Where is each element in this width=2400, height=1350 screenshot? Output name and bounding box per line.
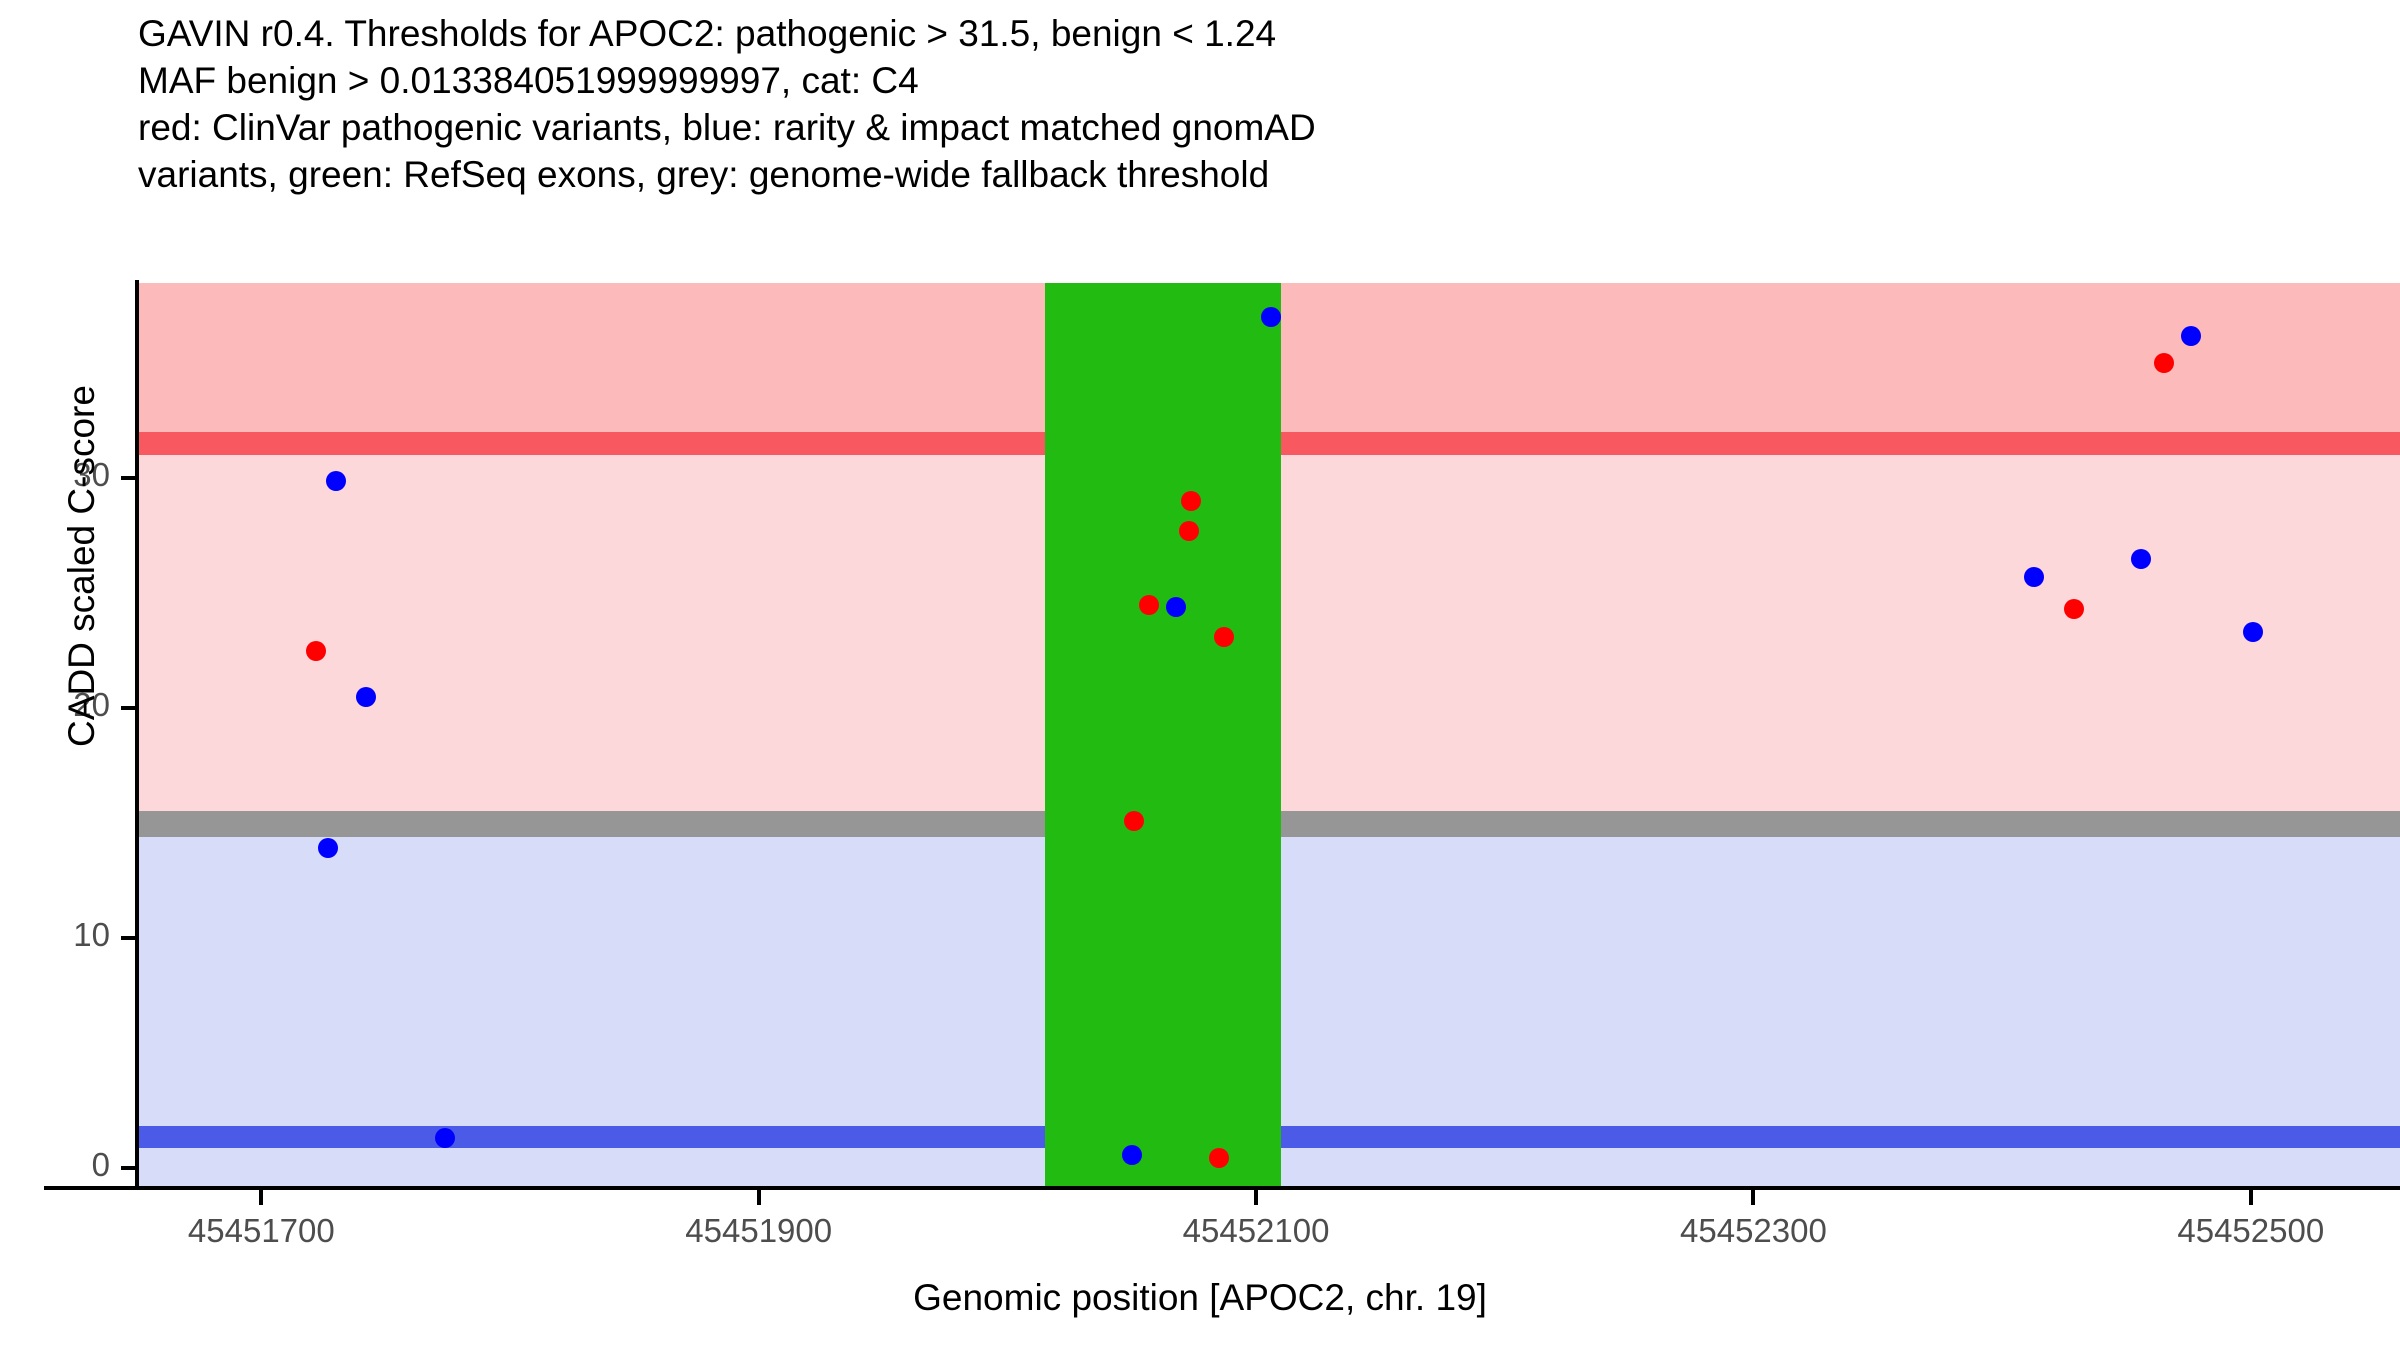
clinvar-pathogenic-point[interactable] [1124,811,1144,831]
clinvar-pathogenic-point[interactable] [1181,491,1201,511]
x-axis-tick [259,1190,263,1205]
gnomad-variant-point[interactable] [2024,567,2044,587]
gnomad-variant-point[interactable] [435,1128,455,1148]
chart-title-block: GAVIN r0.4. Thresholds for APOC2: pathog… [138,10,2338,198]
clinvar-pathogenic-point[interactable] [2154,353,2174,373]
gnomad-variant-point[interactable] [2131,549,2151,569]
x-axis-tick [2249,1190,2253,1205]
title-line-4: variants, green: RefSeq exons, grey: gen… [138,151,2338,198]
x-axis-tick-label: 45451700 [188,1212,335,1250]
clinvar-pathogenic-point[interactable] [1214,627,1234,647]
gnomad-variant-point[interactable] [1261,307,1281,327]
title-line-2: MAF benign > 0.013384051999999997, cat: … [138,57,2338,104]
clinvar-pathogenic-point[interactable] [306,641,326,661]
refseq-exon-band [1045,283,1281,1186]
x-axis-tick [1751,1190,1755,1205]
clinvar-pathogenic-point[interactable] [1179,521,1199,541]
gnomad-variant-point[interactable] [1166,597,1186,617]
y-axis-title: CADD scaled C-score [61,216,103,916]
y-axis-tick [121,1166,135,1170]
clinvar-pathogenic-point[interactable] [1209,1148,1229,1168]
clinvar-pathogenic-point[interactable] [1139,595,1159,615]
x-axis-tick [1254,1190,1258,1205]
title-line-3: red: ClinVar pathogenic variants, blue: … [138,104,2338,151]
gnomad-variant-point[interactable] [356,687,376,707]
title-line-1: GAVIN r0.4. Thresholds for APOC2: pathog… [138,10,2338,57]
x-axis-tick-label: 45451900 [685,1212,832,1250]
x-axis-line [44,1186,2400,1190]
y-axis-tick-label: 0 [0,1146,110,1184]
y-axis-tick [121,706,135,710]
x-axis-tick-label: 45452300 [1680,1212,1827,1250]
gnomad-variant-point[interactable] [2181,326,2201,346]
plot-area [137,283,2400,1186]
y-axis-tick-label: 10 [0,916,110,954]
gnomad-variant-point[interactable] [2243,622,2263,642]
chart-root: GAVIN r0.4. Thresholds for APOC2: pathog… [0,0,2400,1350]
clinvar-pathogenic-point[interactable] [2064,599,2084,619]
x-axis-tick [757,1190,761,1205]
gnomad-variant-point[interactable] [326,471,346,491]
y-axis-tick [121,476,135,480]
gnomad-variant-point[interactable] [1122,1145,1142,1165]
x-axis-tick-label: 45452100 [1183,1212,1330,1250]
gnomad-variant-point[interactable] [318,838,338,858]
x-axis-title: Genomic position [APOC2, chr. 19] [0,1277,2400,1319]
x-axis-tick-label: 45452500 [2177,1212,2324,1250]
y-axis-tick [121,936,135,940]
y-axis-line [135,280,139,1190]
